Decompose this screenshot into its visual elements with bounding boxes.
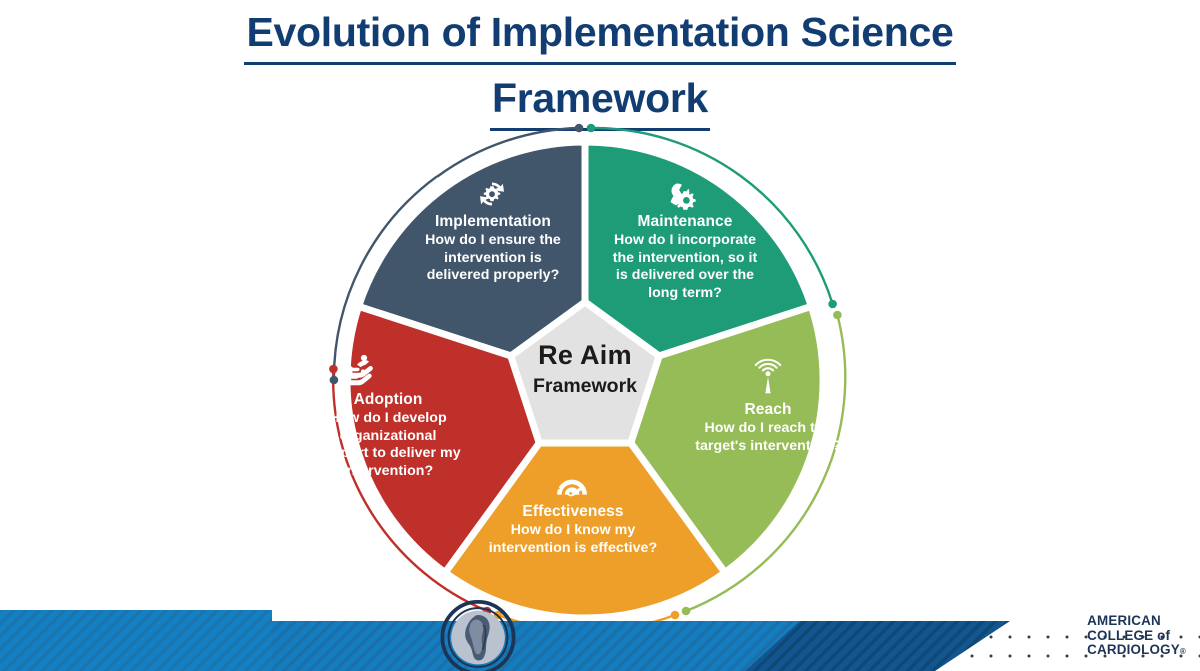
page-title-line-1: Evolution of Implementation Science xyxy=(244,4,955,65)
acc-wordmark-line-2: COLLEGE of xyxy=(1087,629,1186,644)
slide-canvas: Evolution of Implementation Science Fram… xyxy=(0,0,1200,671)
acc-wordmark-line-3: CARDIOLOGY® xyxy=(1087,643,1186,660)
re-aim-wheel: Implementation How do I ensure the inter… xyxy=(220,112,950,632)
acc-wordmark-line-1: AMERICAN xyxy=(1087,614,1186,629)
footer-band: AMERICAN COLLEGE of CARDIOLOGY® xyxy=(0,596,1200,671)
american-college-of-cardiology-logo: AMERICAN COLLEGE of CARDIOLOGY® xyxy=(0,611,1186,663)
acc-seal-icon xyxy=(0,600,1078,671)
acc-wordmark: AMERICAN COLLEGE of CARDIOLOGY® xyxy=(1087,614,1186,660)
